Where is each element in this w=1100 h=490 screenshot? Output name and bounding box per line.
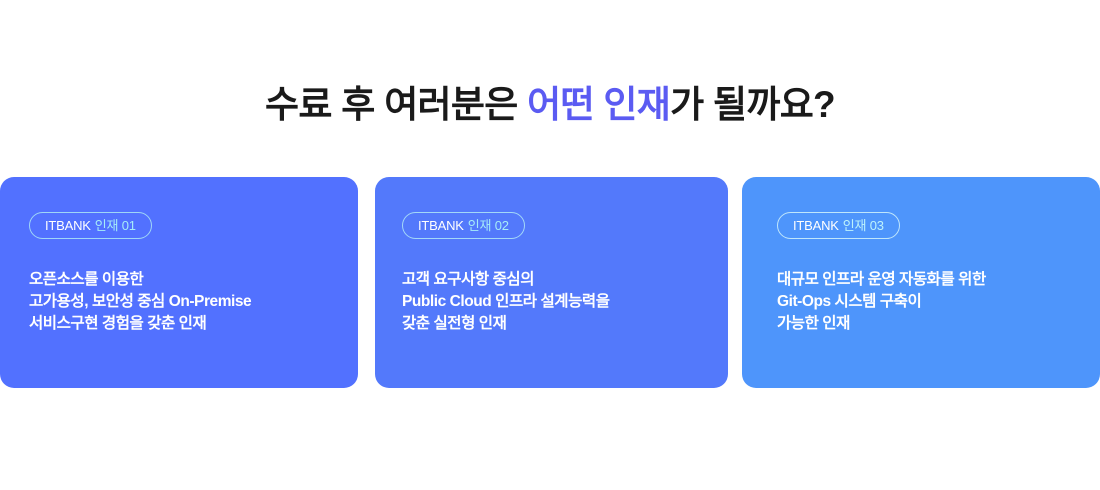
page-root: 수료 후 여러분은 어떤 인재가 될까요? ITBANK인재 01 오픈소스를 …: [0, 0, 1100, 490]
talent-card-01[interactable]: ITBANK인재 01 오픈소스를 이용한 고가용성, 보안성 중심 On-Pr…: [0, 177, 358, 388]
badge-brand-label: ITBANK: [45, 219, 91, 232]
card-text-line: 대규모 인프라 운영 자동화를 위한: [777, 269, 986, 291]
badge-rank-label: 인재 03: [843, 219, 884, 232]
page-title-after: 가 될까요?: [670, 84, 835, 125]
talent-card-03-text: 대규모 인프라 운영 자동화를 위한 Git-Ops 시스템 구축이 가능한 인…: [777, 269, 986, 335]
badge-talent-03: ITBANK인재 03: [777, 212, 900, 239]
card-text-line: 고가용성, 보안성 중심 On-Premise: [29, 291, 251, 313]
card-text-line: 갖춘 실전형 인재: [402, 313, 610, 335]
card-text-line: Git-Ops 시스템 구축이: [777, 291, 986, 313]
badge-rank-label: 인재 01: [95, 219, 136, 232]
card-text-line: 서비스구현 경험을 갖춘 인재: [29, 313, 251, 335]
card-text-line: 가능한 인재: [777, 313, 986, 335]
talent-card-02[interactable]: ITBANK인재 02 고객 요구사항 중심의 Public Cloud 인프라…: [375, 177, 728, 388]
talent-card-row: ITBANK인재 01 오픈소스를 이용한 고가용성, 보안성 중심 On-Pr…: [0, 177, 1100, 388]
talent-card-01-text: 오픈소스를 이용한 고가용성, 보안성 중심 On-Premise 서비스구현 …: [29, 269, 251, 335]
card-text-line: Public Cloud 인프라 설계능력을: [402, 291, 610, 313]
page-title-accent: 어떤 인재: [527, 84, 670, 125]
talent-card-03[interactable]: ITBANK인재 03 대규모 인프라 운영 자동화를 위한 Git-Ops 시…: [742, 177, 1100, 388]
talent-card-02-text: 고객 요구사항 중심의 Public Cloud 인프라 설계능력을 갖춘 실전…: [402, 269, 610, 335]
card-text-line: 고객 요구사항 중심의: [402, 269, 610, 291]
page-title: 수료 후 여러분은 어떤 인재가 될까요?: [0, 82, 1100, 128]
badge-talent-02: ITBANK인재 02: [402, 212, 525, 239]
badge-talent-01: ITBANK인재 01: [29, 212, 152, 239]
badge-brand-label: ITBANK: [793, 219, 839, 232]
page-title-before: 수료 후 여러분은: [265, 84, 527, 125]
badge-rank-label: 인재 02: [468, 219, 509, 232]
badge-brand-label: ITBANK: [418, 219, 464, 232]
card-text-line: 오픈소스를 이용한: [29, 269, 251, 291]
